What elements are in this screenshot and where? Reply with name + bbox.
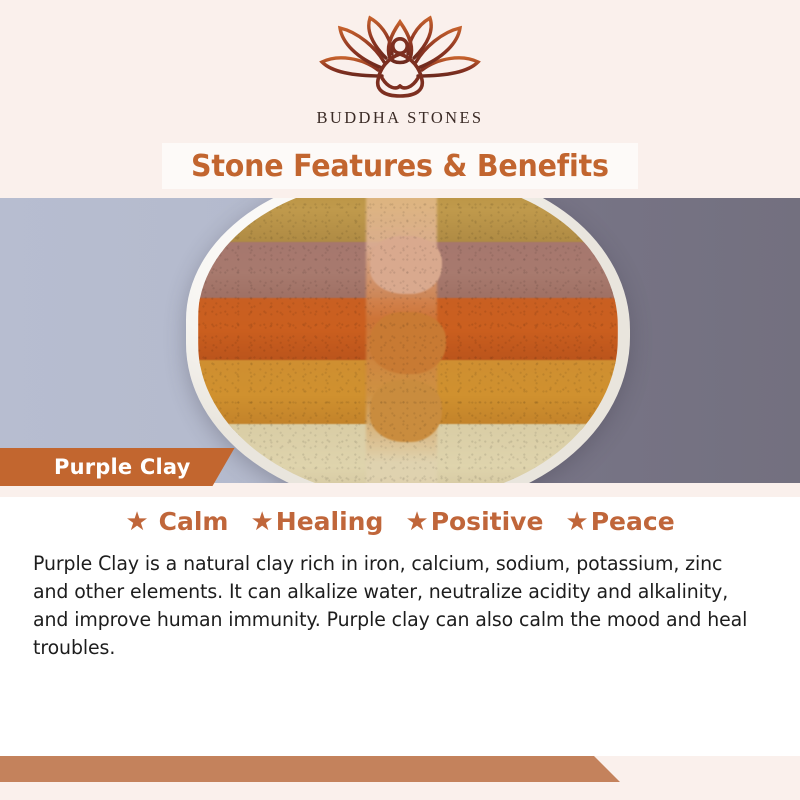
benefit-item-healing: ★ Healing — [250, 507, 383, 536]
page-title: Stone Features & Benefits — [191, 149, 609, 184]
brand-logo: BUDDHA STONES — [0, 14, 800, 128]
powder-area — [198, 198, 618, 483]
benefit-label: Positive — [431, 507, 544, 536]
lotus-meditation-icon — [312, 14, 488, 106]
star-icon: ★ — [125, 509, 148, 535]
product-name: Purple Clay — [54, 455, 191, 479]
product-name-banner: Purple Clay — [0, 448, 235, 486]
title-panel: Stone Features & Benefits — [162, 143, 638, 189]
star-icon: ★ — [250, 509, 273, 535]
benefit-item-peace: ★ Peace — [565, 507, 674, 536]
benefits-row: ★ Calm ★ Healing ★ Positive ★ Peace — [0, 507, 800, 536]
benefit-label: Calm — [159, 507, 229, 536]
star-icon: ★ — [565, 509, 588, 535]
header: BUDDHA STONES Stone Features & Benefits — [0, 0, 800, 198]
description-text: Purple Clay is a natural clay rich in ir… — [33, 550, 751, 662]
brand-name: BUDDHA STONES — [0, 108, 800, 128]
product-photo — [0, 198, 800, 483]
frame-bottom-bar — [0, 756, 620, 782]
infographic-page: BUDDHA STONES Stone Features & Benefits … — [0, 0, 800, 800]
benefit-label: Peace — [591, 507, 675, 536]
benefit-label: Healing — [276, 507, 384, 536]
powder-grain-texture — [198, 198, 618, 483]
star-icon: ★ — [405, 509, 428, 535]
benefit-item-calm: ★ Calm — [125, 507, 228, 536]
benefit-item-positive: ★ Positive — [405, 507, 543, 536]
description-block: ★ Calm ★ Healing ★ Positive ★ Peace Purp… — [0, 483, 800, 756]
